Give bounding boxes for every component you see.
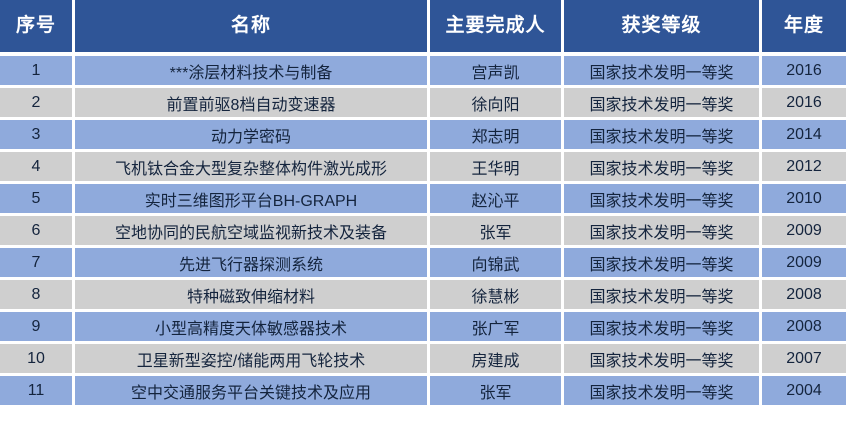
- cell-title: 动力学密码: [75, 120, 430, 152]
- cell-title: 小型高精度天体敏感器技术: [75, 312, 430, 344]
- cell-year: 2016: [762, 88, 846, 120]
- cell-person: 向锦武: [430, 248, 564, 280]
- cell-award: 国家技术发明一等奖: [564, 344, 762, 376]
- cell-index: 4: [0, 152, 75, 184]
- cell-person: 张军: [430, 376, 564, 408]
- cell-index: 8: [0, 280, 75, 312]
- cell-index: 5: [0, 184, 75, 216]
- cell-title: 实时三维图形平台BH-GRAPH: [75, 184, 430, 216]
- cell-index: 6: [0, 216, 75, 248]
- cell-person: 徐向阳: [430, 88, 564, 120]
- table-row[interactable]: 7先进飞行器探测系统向锦武国家技术发明一等奖2009: [0, 248, 846, 280]
- table-row[interactable]: 6空地协同的民航空域监视新技术及装备张军国家技术发明一等奖2009: [0, 216, 846, 248]
- table-body: 1***涂层材料技术与制备宫声凯国家技术发明一等奖20162前置前驱8档自动变速…: [0, 56, 846, 408]
- cell-award: 国家技术发明一等奖: [564, 216, 762, 248]
- cell-index: 3: [0, 120, 75, 152]
- cell-year: 2010: [762, 184, 846, 216]
- table-row[interactable]: 2前置前驱8档自动变速器徐向阳国家技术发明一等奖2016: [0, 88, 846, 120]
- table-header: 序号 名称 主要完成人 获奖等级 年度: [0, 0, 846, 56]
- cell-year: 2008: [762, 312, 846, 344]
- cell-index: 2: [0, 88, 75, 120]
- cell-person: 徐慧彬: [430, 280, 564, 312]
- table-row[interactable]: 5实时三维图形平台BH-GRAPH赵沁平国家技术发明一等奖2010: [0, 184, 846, 216]
- cell-index: 9: [0, 312, 75, 344]
- table-row[interactable]: 1***涂层材料技术与制备宫声凯国家技术发明一等奖2016: [0, 56, 846, 88]
- cell-person: 房建成: [430, 344, 564, 376]
- cell-title: 飞机钛合金大型复杂整体构件激光成形: [75, 152, 430, 184]
- cell-year: 2009: [762, 216, 846, 248]
- cell-person: 郑志明: [430, 120, 564, 152]
- cell-year: 2008: [762, 280, 846, 312]
- column-header-title[interactable]: 名称: [75, 0, 430, 56]
- column-header-year[interactable]: 年度: [762, 0, 846, 56]
- cell-person: 张广军: [430, 312, 564, 344]
- cell-title: 空中交通服务平台关键技术及应用: [75, 376, 430, 408]
- table-row[interactable]: 3动力学密码郑志明国家技术发明一等奖2014: [0, 120, 846, 152]
- cell-award: 国家技术发明一等奖: [564, 120, 762, 152]
- cell-year: 2007: [762, 344, 846, 376]
- column-header-award[interactable]: 获奖等级: [564, 0, 762, 56]
- cell-year: 2014: [762, 120, 846, 152]
- cell-year: 2016: [762, 56, 846, 88]
- cell-year: 2004: [762, 376, 846, 408]
- cell-year: 2012: [762, 152, 846, 184]
- cell-year: 2009: [762, 248, 846, 280]
- column-header-person[interactable]: 主要完成人: [430, 0, 564, 56]
- cell-award: 国家技术发明一等奖: [564, 56, 762, 88]
- table-header-row: 序号 名称 主要完成人 获奖等级 年度: [0, 0, 846, 56]
- cell-index: 1: [0, 56, 75, 88]
- cell-title: 前置前驱8档自动变速器: [75, 88, 430, 120]
- cell-award: 国家技术发明一等奖: [564, 376, 762, 408]
- table-row[interactable]: 4飞机钛合金大型复杂整体构件激光成形王华明国家技术发明一等奖2012: [0, 152, 846, 184]
- cell-index: 7: [0, 248, 75, 280]
- cell-award: 国家技术发明一等奖: [564, 152, 762, 184]
- table-row[interactable]: 8特种磁致伸缩材料徐慧彬国家技术发明一等奖2008: [0, 280, 846, 312]
- cell-title: 卫星新型姿控/储能两用飞轮技术: [75, 344, 430, 376]
- cell-award: 国家技术发明一等奖: [564, 248, 762, 280]
- cell-title: 特种磁致伸缩材料: [75, 280, 430, 312]
- cell-award: 国家技术发明一等奖: [564, 184, 762, 216]
- column-header-index[interactable]: 序号: [0, 0, 75, 56]
- table-row[interactable]: 10卫星新型姿控/储能两用飞轮技术房建成国家技术发明一等奖2007: [0, 344, 846, 376]
- awards-table: 序号 名称 主要完成人 获奖等级 年度 1***涂层材料技术与制备宫声凯国家技术…: [0, 0, 846, 408]
- cell-person: 王华明: [430, 152, 564, 184]
- cell-person: 宫声凯: [430, 56, 564, 88]
- cell-title: ***涂层材料技术与制备: [75, 56, 430, 88]
- cell-index: 10: [0, 344, 75, 376]
- table-row[interactable]: 9小型高精度天体敏感器技术张广军国家技术发明一等奖2008: [0, 312, 846, 344]
- cell-person: 赵沁平: [430, 184, 564, 216]
- cell-person: 张军: [430, 216, 564, 248]
- cell-index: 11: [0, 376, 75, 408]
- cell-award: 国家技术发明一等奖: [564, 280, 762, 312]
- cell-title: 空地协同的民航空域监视新技术及装备: [75, 216, 430, 248]
- table-row[interactable]: 11空中交通服务平台关键技术及应用张军国家技术发明一等奖2004: [0, 376, 846, 408]
- cell-title: 先进飞行器探测系统: [75, 248, 430, 280]
- cell-award: 国家技术发明一等奖: [564, 88, 762, 120]
- cell-award: 国家技术发明一等奖: [564, 312, 762, 344]
